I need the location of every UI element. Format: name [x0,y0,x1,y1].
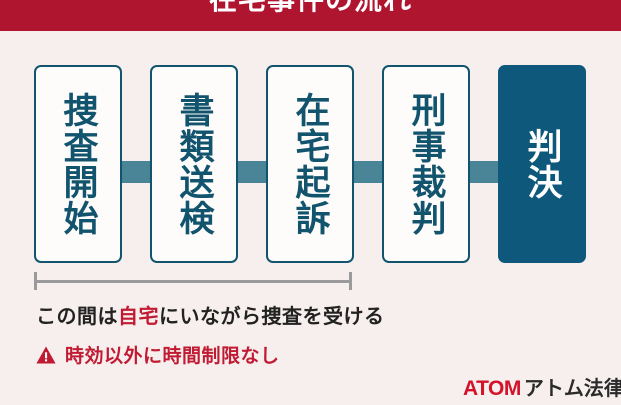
bracket-cap-right [349,272,352,290]
flow-step-5[interactable]: 判決 [498,65,586,263]
flow-step-1[interactable]: 捜査開始 [34,65,122,263]
note-main-highlight: 自宅 [118,306,159,328]
note-main-prefix: この間は [36,306,118,328]
header-band: 在宅事件の流れ [0,0,621,31]
span-bracket [34,272,352,290]
flow-step-3-label: 在宅起訴 [291,92,328,236]
flow-step-5-label: 判決 [523,128,560,200]
note-main: この間は自宅にいながら捜査を受ける [36,300,385,329]
infographic-root: 在宅事件の流れ 捜査開始 書類送検 在宅起訴 刑事裁判 判決 この間は自宅にいな… [0,0,621,405]
flow-step-2-label: 書類送検 [175,92,212,236]
bracket-bar [34,280,352,283]
brand-logo: ATOM アトム法律事務 [463,372,621,401]
flow-chart: 捜査開始 書類送検 在宅起訴 刑事裁判 判決 [0,31,621,271]
flow-step-3[interactable]: 在宅起訴 [266,65,354,263]
connector-1-2 [118,161,154,183]
flow-step-4-label: 刑事裁判 [407,92,444,236]
logo-mark: ATOM [463,377,521,401]
note-main-suffix: にいながら捜査を受ける [159,306,385,328]
flow-step-4[interactable]: 刑事裁判 [382,65,470,263]
page-title: 在宅事件の流れ [0,0,621,14]
flow-step-1-label: 捜査開始 [59,92,96,236]
logo-name: アトム法律事務 [524,372,621,401]
note-warning-text: 時効以外に時間制限なし [65,341,280,368]
flow-step-2[interactable]: 書類送検 [150,65,238,263]
warning-triangle-icon [36,346,56,364]
note-warning: 時効以外に時間制限なし [36,341,280,368]
